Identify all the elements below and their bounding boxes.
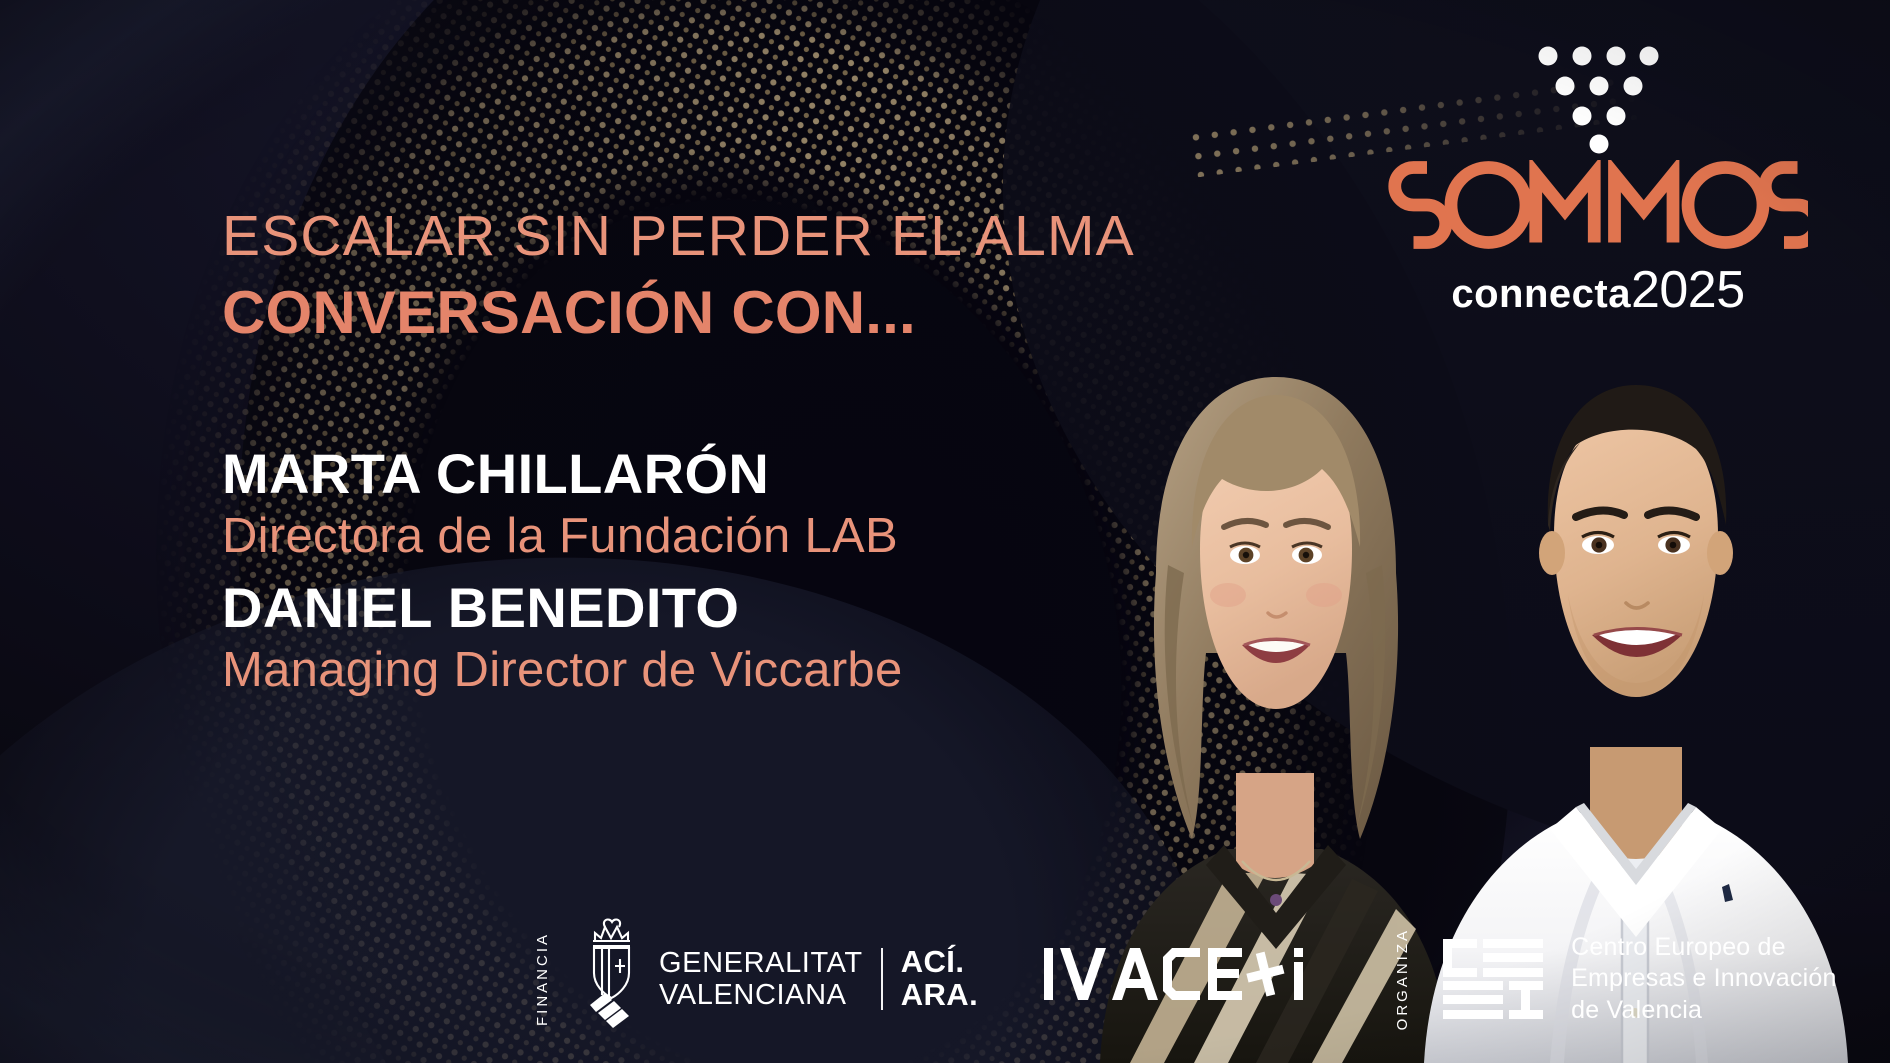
ceei-line-1: Centro Europeo de <box>1571 932 1836 964</box>
ceei-line-2: Empresas e Innovación <box>1571 963 1836 995</box>
generalitat-line-1: GENERALITAT <box>659 947 863 979</box>
headline-line-1: ESCALAR SIN PERDER EL ALMA <box>222 208 1135 265</box>
organiza-group: ORGANIZA <box>1394 928 1411 1030</box>
ceei-line-3: de Valencia <box>1571 995 1836 1027</box>
generalitat-line-2: VALENCIANA <box>659 979 863 1011</box>
aci-line-1: ACÍ. <box>901 946 978 979</box>
aci-line-2: ARA. <box>901 979 978 1012</box>
speaker-name-2: DANIEL BENEDITO <box>222 576 903 641</box>
ceei-logo: Centro Europeo de Empresas e Innovación … <box>1441 932 1836 1027</box>
speaker-name-1: MARTA CHILLARÓN <box>222 442 903 507</box>
ceei-description: Centro Europeo de Empresas e Innovación … <box>1571 932 1836 1027</box>
aci-ara-logo: ACÍ. ARA. <box>901 946 978 1012</box>
event-promo-poster: connecta 2025 ESCALAR SIN PERDER EL ALMA… <box>0 0 1890 1063</box>
sommos-wordmark-icon <box>1388 160 1808 256</box>
speaker-role-1: Directora de la Fundación LAB <box>222 507 903 566</box>
speakers-block: MARTA CHILLARÓN Directora de la Fundació… <box>222 442 903 700</box>
financia-group: FINANCIA <box>534 932 551 1026</box>
speaker-role-2: Managing Director de Viccarbe <box>222 641 903 700</box>
headline-line-2: CONVERSACIÓN CON... <box>222 281 1135 344</box>
logo-divider <box>881 948 883 1010</box>
sponsor-logo-bar: FINANCIA <box>0 895 1890 1063</box>
sommos-dot-triangle-icon <box>1536 42 1660 154</box>
generalitat-valenciana-text: GENERALITAT VALENCIANA <box>659 947 863 1012</box>
ivace-plus-i-wordmark-icon <box>1044 944 1306 1010</box>
financia-label: FINANCIA <box>534 932 551 1026</box>
generalitat-valenciana-logo: GENERALITAT VALENCIANA <box>581 915 863 1043</box>
organiza-label: ORGANIZA <box>1394 928 1411 1030</box>
generalitat-crest-icon <box>581 915 643 1043</box>
ivace-logo <box>1044 944 1306 1015</box>
headline-block: ESCALAR SIN PERDER EL ALMA CONVERSACIÓN … <box>222 208 1135 344</box>
ceei-mark-icon <box>1441 937 1545 1021</box>
